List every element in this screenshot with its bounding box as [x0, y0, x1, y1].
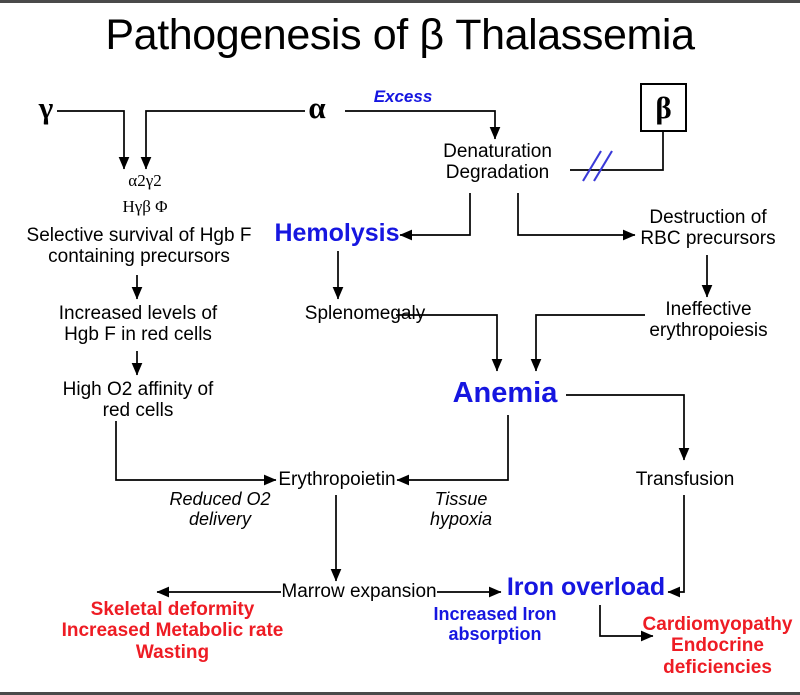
- node-alpha-chain: α: [295, 91, 339, 126]
- diagram-canvas: Pathogenesis of β Thalassemia: [0, 0, 800, 695]
- double-slash-break-icon: [583, 151, 612, 181]
- node-increased-hgbf: Increased levels of Hgb F in red cells: [38, 303, 238, 346]
- node-selective-survival: Selective survival of Hgb F containing p…: [14, 225, 264, 268]
- label-tissue-hypoxia: Tissue hypoxia: [406, 489, 516, 529]
- node-ineffective-erythropoiesis: Ineffective erythropoiesis: [637, 299, 780, 342]
- page-title: Pathogenesis of β Thalassemia: [0, 11, 800, 60]
- node-skeletal-outcomes: Skeletal deformity Increased Metabolic r…: [0, 599, 345, 663]
- connector-ineffective-to-anemia: [536, 315, 645, 371]
- connector-anemia-to-transfusion: [566, 395, 684, 460]
- label-excess: Excess: [338, 87, 468, 106]
- node-destruction-rbc-precursors: Destruction of RBC precursors: [633, 207, 783, 250]
- node-alpha2gamma2: α2γ2: [95, 171, 195, 190]
- connector-denaturation-to-destruction: [518, 193, 635, 235]
- node-cardiac-outcomes: Cardiomyopathy Endocrine deficiencies: [635, 614, 800, 678]
- node-high-o2-affinity: High O2 affinity of red cells: [38, 379, 238, 422]
- node-iron-overload: Iron overload: [501, 573, 671, 601]
- connector-anemia-to-erythropoietin: [397, 415, 508, 480]
- node-erythropoietin: Erythropoietin: [272, 469, 402, 490]
- connector-denaturation-to-hemolysis: [400, 193, 470, 235]
- node-splenomegaly: Splenomegaly: [290, 303, 440, 324]
- node-transfusion: Transfusion: [625, 469, 745, 490]
- connector-alpha-to-a2g2: [146, 111, 305, 169]
- node-denaturation-degradation: Denaturation Degradation: [435, 141, 560, 184]
- node-beta-chain: β: [640, 91, 687, 126]
- node-anemia: Anemia: [435, 377, 575, 409]
- node-gamma-chain: γ: [24, 91, 68, 126]
- connector-beta-to-denaturation-blocked: [570, 131, 663, 170]
- node-hemolysis: Hemolysis: [272, 219, 402, 247]
- node-increased-iron-absorption: Increased Iron absorption: [415, 604, 575, 644]
- node-hgb-phi: Hγβ Φ: [95, 197, 195, 216]
- connector-alpha-excess-to-denaturation: [345, 111, 495, 139]
- connector-higho2-to-erythropoietin: [116, 421, 276, 480]
- label-reduced-o2-delivery: Reduced O2 delivery: [150, 489, 290, 529]
